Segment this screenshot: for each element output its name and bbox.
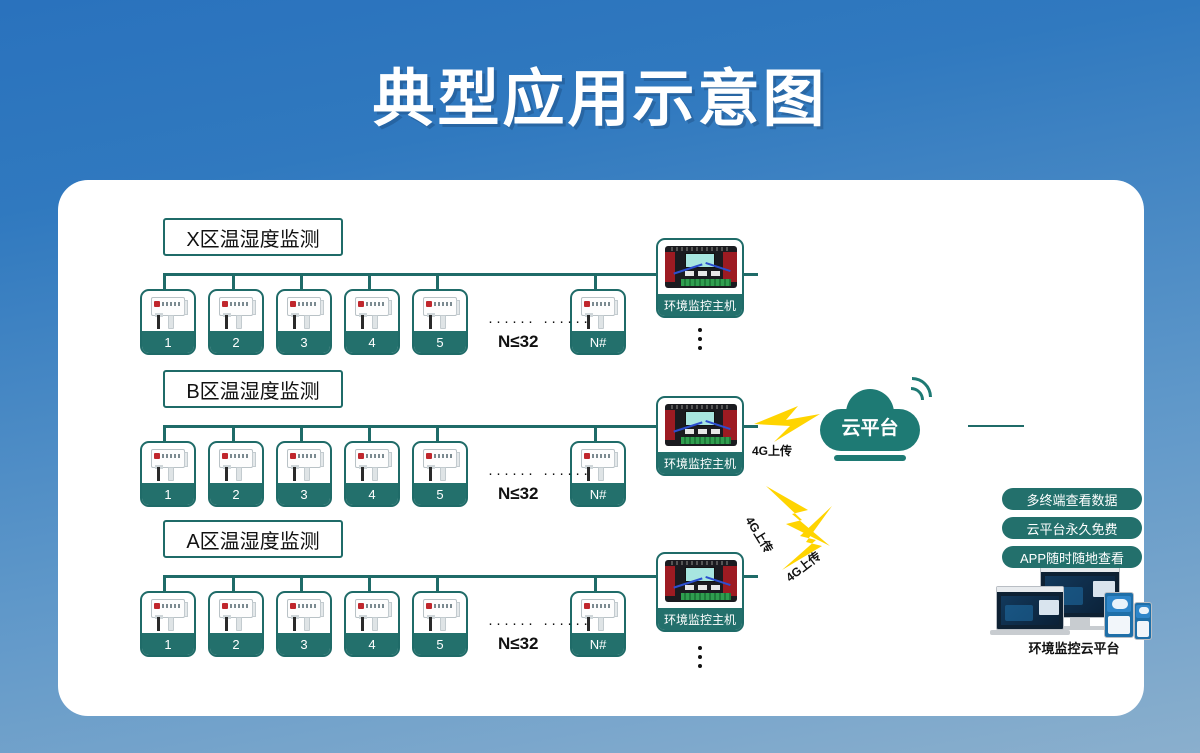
sensor-index: N# (572, 483, 624, 505)
sensor-card[interactable]: 2 (208, 591, 264, 657)
sensor-device-icon (346, 291, 398, 335)
sensor-card[interactable]: 2 (208, 289, 264, 355)
sensor-index: 3 (278, 633, 330, 655)
sensor-ellipsis: ······ ······ (488, 465, 591, 482)
sensor-device-icon (210, 443, 262, 487)
sensor-limit-text: N≤32 (498, 634, 539, 654)
sensor-index: 5 (414, 633, 466, 655)
phone-icon (1134, 602, 1152, 640)
host-controller-card[interactable]: 环境监控主机 (656, 552, 744, 632)
host-vertical-ellipsis (698, 646, 702, 668)
sensor-device-icon (278, 443, 330, 487)
zone-label-0: X区温湿度监测 (163, 218, 343, 256)
host-device-icon (658, 398, 742, 452)
zone-label-2: A区温湿度监测 (163, 520, 343, 558)
laptop-icon (996, 586, 1064, 630)
sensor-card[interactable]: 1 (140, 591, 196, 657)
uplink-bolt-icon (748, 402, 826, 446)
cloud-label: 云平台 (820, 413, 920, 440)
feature-badge[interactable]: APP随时随地查看 (1002, 546, 1142, 568)
sensor-index: 4 (346, 331, 398, 353)
sensor-device-icon (346, 443, 398, 487)
sensor-index: 5 (414, 331, 466, 353)
host-controller-card[interactable]: 环境监控主机 (656, 238, 744, 318)
sensor-card[interactable]: 3 (276, 441, 332, 507)
sensor-device-icon (210, 593, 262, 637)
sensor-device-icon (142, 291, 194, 335)
sensor-card[interactable]: 1 (140, 289, 196, 355)
tablet-icon (1104, 592, 1134, 638)
sensor-device-icon (142, 593, 194, 637)
host-controller-card[interactable]: 环境监控主机 (656, 396, 744, 476)
host-label: 环境监控主机 (658, 294, 742, 316)
sensor-index: N# (572, 633, 624, 655)
sensor-device-icon (210, 291, 262, 335)
cloud-to-terminals-line (968, 425, 1024, 427)
sensor-device-icon (142, 443, 194, 487)
feature-badge[interactable]: 云平台永久免费 (1002, 517, 1142, 539)
sensor-card[interactable]: 3 (276, 591, 332, 657)
sensor-device-icon (414, 291, 466, 335)
monitor-stand (1070, 618, 1090, 626)
sensor-card[interactable]: 5 (412, 591, 468, 657)
sensor-card[interactable]: 5 (412, 441, 468, 507)
sensor-index: 2 (210, 633, 262, 655)
host-device-icon (658, 554, 742, 608)
sensor-card[interactable]: 4 (344, 441, 400, 507)
sensor-limit-text: N≤32 (498, 484, 539, 504)
sensor-card[interactable]: 5 (412, 289, 468, 355)
sensor-device-icon (414, 593, 466, 637)
uplink-label: 4G上传 (752, 442, 792, 459)
sensor-index: 3 (278, 331, 330, 353)
sensor-card[interactable]: 3 (276, 289, 332, 355)
sensor-index: 2 (210, 331, 262, 353)
cloud-platform-icon[interactable]: 云平台 (820, 383, 930, 461)
sensor-card[interactable]: 4 (344, 289, 400, 355)
sensor-device-icon (414, 443, 466, 487)
sensor-index: 1 (142, 331, 194, 353)
sensor-index: 1 (142, 633, 194, 655)
feature-badge[interactable]: 多终端查看数据 (1002, 488, 1142, 510)
host-label: 环境监控主机 (658, 608, 742, 630)
sensor-device-icon (278, 291, 330, 335)
zone-label-1: B区温湿度监测 (163, 370, 343, 408)
terminal-label: 环境监控云平台 (996, 638, 1152, 657)
sensor-card[interactable]: 1 (140, 441, 196, 507)
sensor-index: 1 (142, 483, 194, 505)
sensor-ellipsis: ······ ······ (488, 313, 591, 330)
page-title: 典型应用示意图 (0, 48, 1200, 138)
laptop-base (990, 630, 1070, 635)
host-vertical-ellipsis (698, 328, 702, 350)
sensor-index: 3 (278, 483, 330, 505)
sensor-device-icon (346, 593, 398, 637)
host-device-icon (658, 240, 742, 294)
sensor-index: 4 (346, 483, 398, 505)
sensor-index: 2 (210, 483, 262, 505)
sensor-card[interactable]: 4 (344, 591, 400, 657)
sensor-device-icon (278, 593, 330, 637)
sensor-card[interactable]: 2 (208, 441, 264, 507)
diagram-panel: X区温湿度监测 1 2 3 4 (58, 180, 1144, 716)
sensor-index: N# (572, 331, 624, 353)
terminal-devices-illustration (996, 566, 1152, 638)
sensor-limit-text: N≤32 (498, 332, 539, 352)
sensor-index: 5 (414, 483, 466, 505)
host-label: 环境监控主机 (658, 452, 742, 474)
sensor-ellipsis: ······ ······ (488, 615, 591, 632)
sensor-index: 4 (346, 633, 398, 655)
